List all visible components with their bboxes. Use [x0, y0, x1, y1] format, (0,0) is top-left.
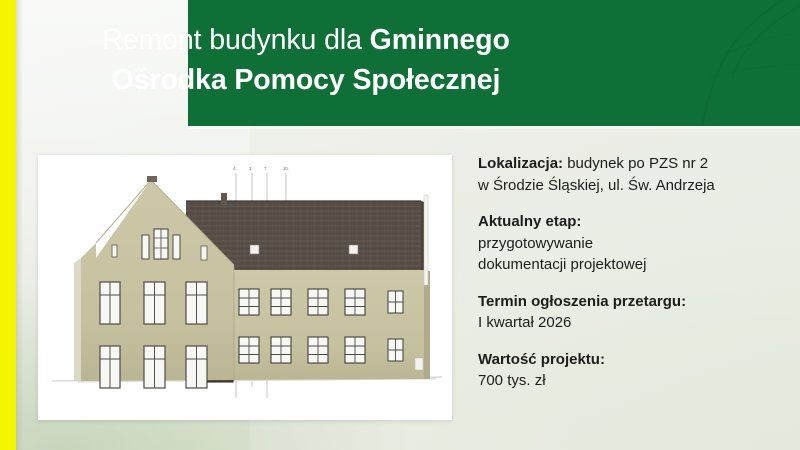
building-elevation-image: 4. 3. 7. 10.: [38, 155, 452, 420]
elevation-drawing: 4. 3. 7. 10.: [38, 155, 452, 420]
svg-text:7.: 7.: [264, 166, 268, 171]
svg-text:10.: 10.: [283, 166, 289, 171]
detail-group-termin-przetargu: Termin ogłoszenia przetargu: I kwartał 2…: [478, 291, 794, 334]
header-bottom-edge: [188, 126, 800, 129]
gable-cap: [147, 176, 157, 182]
detail-group-aktualny-etap: Aktualny etap: przygotowywanie dokumenta…: [478, 211, 794, 276]
detail-value-line: 700 tys. zł: [478, 370, 794, 392]
slide-canvas: Remont budynku dla Gminnego Ośrodka Pomo…: [0, 0, 800, 450]
roof-window: [250, 245, 259, 254]
page-title: Remont budynku dla Gminnego Ośrodka Pomo…: [0, 20, 612, 100]
detail-label: Termin ogłoszenia przetargu:: [478, 291, 794, 313]
detail-label: Wartość projektu:: [478, 349, 794, 371]
basement-vent: [415, 358, 423, 370]
left-return: [74, 258, 81, 381]
detail-value-line: w Środzie Śląskiej, ul. Św. Andrzeja: [478, 175, 794, 197]
detail-label: Aktualny etap:: [478, 211, 794, 233]
detail-label: Lokalizacja:: [478, 155, 563, 172]
title-line-1: Remont budynku dla Gminnego: [0, 20, 612, 60]
svg-text:3.: 3.: [249, 166, 253, 171]
detail-value-line: dokumentacji projektowej: [478, 254, 794, 276]
detail-group-wartosc-projektu: Wartość projektu: 700 tys. zł: [478, 349, 794, 392]
title-line-2: Ośrodka Pomocy Społecznej: [0, 60, 612, 100]
right-wing-return: [424, 270, 430, 379]
title-bold-text-1: Gminnego: [370, 24, 510, 56]
right-wing-facade: [234, 270, 424, 380]
detail-value-line: przygotowywanie: [478, 233, 794, 255]
downpipe: [424, 195, 428, 285]
detail-value-inline: budynek po PZS nr 2: [563, 155, 708, 172]
detail-value-line: I kwartał 2026: [478, 312, 794, 334]
roof-window: [349, 245, 358, 254]
svg-text:4.: 4.: [233, 166, 237, 171]
title-regular-text: Remont budynku dla: [102, 24, 369, 56]
left-lower-windows: [100, 346, 207, 388]
detail-group-lokalizacja: Lokalizacja: budynek po PZS nr 2 w Środz…: [478, 153, 794, 196]
left-upper-windows: [100, 282, 207, 324]
chimney: [221, 193, 227, 205]
project-details: Lokalizacja: budynek po PZS nr 2 w Środz…: [478, 153, 794, 392]
